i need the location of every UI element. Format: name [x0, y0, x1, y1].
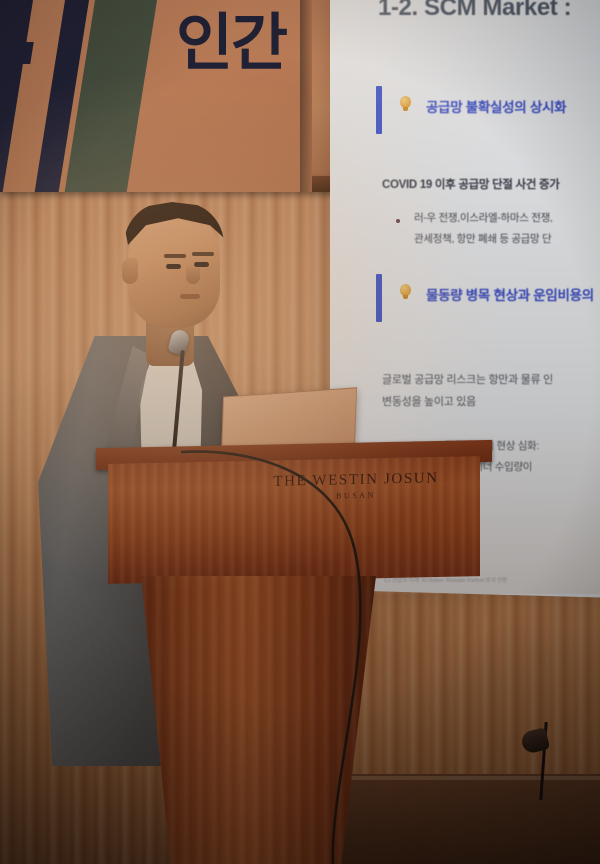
scene-shading	[0, 0, 600, 864]
presentation-photo-scene: 인간 1-2. SCM Market : 공급망 불확실성의 상시화 COVID…	[0, 0, 600, 864]
